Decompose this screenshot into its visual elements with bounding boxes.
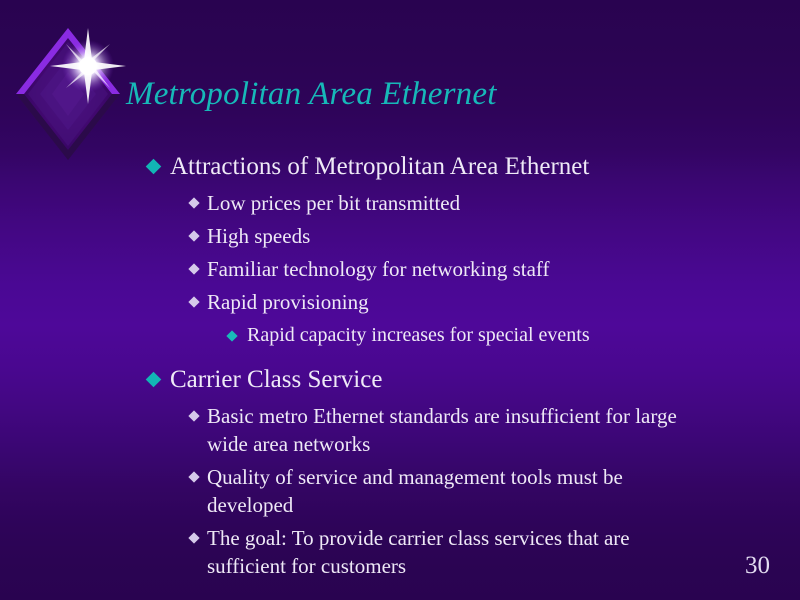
bullet-item-level2: Quality of service and management tools … — [0, 463, 800, 519]
diamond-bullet-icon — [188, 532, 199, 543]
diamond-bullet-icon — [188, 296, 199, 307]
bullet-text: Attractions of Metropolitan Area Etherne… — [170, 153, 589, 180]
bullet-item-level1: Attractions of Metropolitan Area Etherne… — [0, 150, 800, 184]
bullet-item-level1: Carrier Class Service — [0, 363, 800, 397]
diamond-bullet-icon — [146, 372, 162, 388]
bullet-text: Quality of service and management tools … — [207, 465, 623, 517]
bullet-text: Low prices per bit transmitted — [207, 191, 460, 215]
bullet-item-level2: The goal: To provide carrier class servi… — [0, 524, 800, 580]
diamond-bullet-icon — [188, 471, 199, 482]
diamond-bullet-icon — [188, 263, 199, 274]
bullet-text: Rapid capacity increases for special eve… — [247, 324, 590, 346]
slide-body: Attractions of Metropolitan Area Etherne… — [0, 150, 800, 580]
diamond-bullet-icon — [188, 410, 199, 421]
bullet-item-level2: Rapid provisioning — [0, 288, 800, 316]
bullet-item-level2: High speeds — [0, 222, 800, 250]
bullet-item-level2: Low prices per bit transmitted — [0, 189, 800, 217]
bullet-item-level2: Basic metro Ethernet standards are insuf… — [0, 402, 800, 458]
bullet-text: Rapid provisioning — [207, 290, 369, 314]
bullet-text: High speeds — [207, 224, 310, 248]
bullet-item-level3: Rapid capacity increases for special eve… — [0, 322, 800, 349]
page-number: 30 — [745, 552, 770, 580]
presentation-slide: Metropolitan Area Ethernet Attractions o… — [0, 0, 800, 600]
diamond-bullet-icon — [226, 330, 237, 341]
bullet-text: Carrier Class Service — [170, 366, 382, 393]
diamond-bullet-icon — [188, 230, 199, 241]
bullet-item-level2: Familiar technology for networking staff — [0, 255, 800, 283]
page-title: Metropolitan Area Ethernet — [126, 76, 497, 113]
bullet-text: The goal: To provide carrier class servi… — [207, 526, 630, 578]
bullet-text: Familiar technology for networking staff — [207, 257, 550, 281]
diamond-bullet-icon — [188, 197, 199, 208]
bullet-text: Basic metro Ethernet standards are insuf… — [207, 404, 677, 456]
diamond-bullet-icon — [146, 159, 162, 175]
